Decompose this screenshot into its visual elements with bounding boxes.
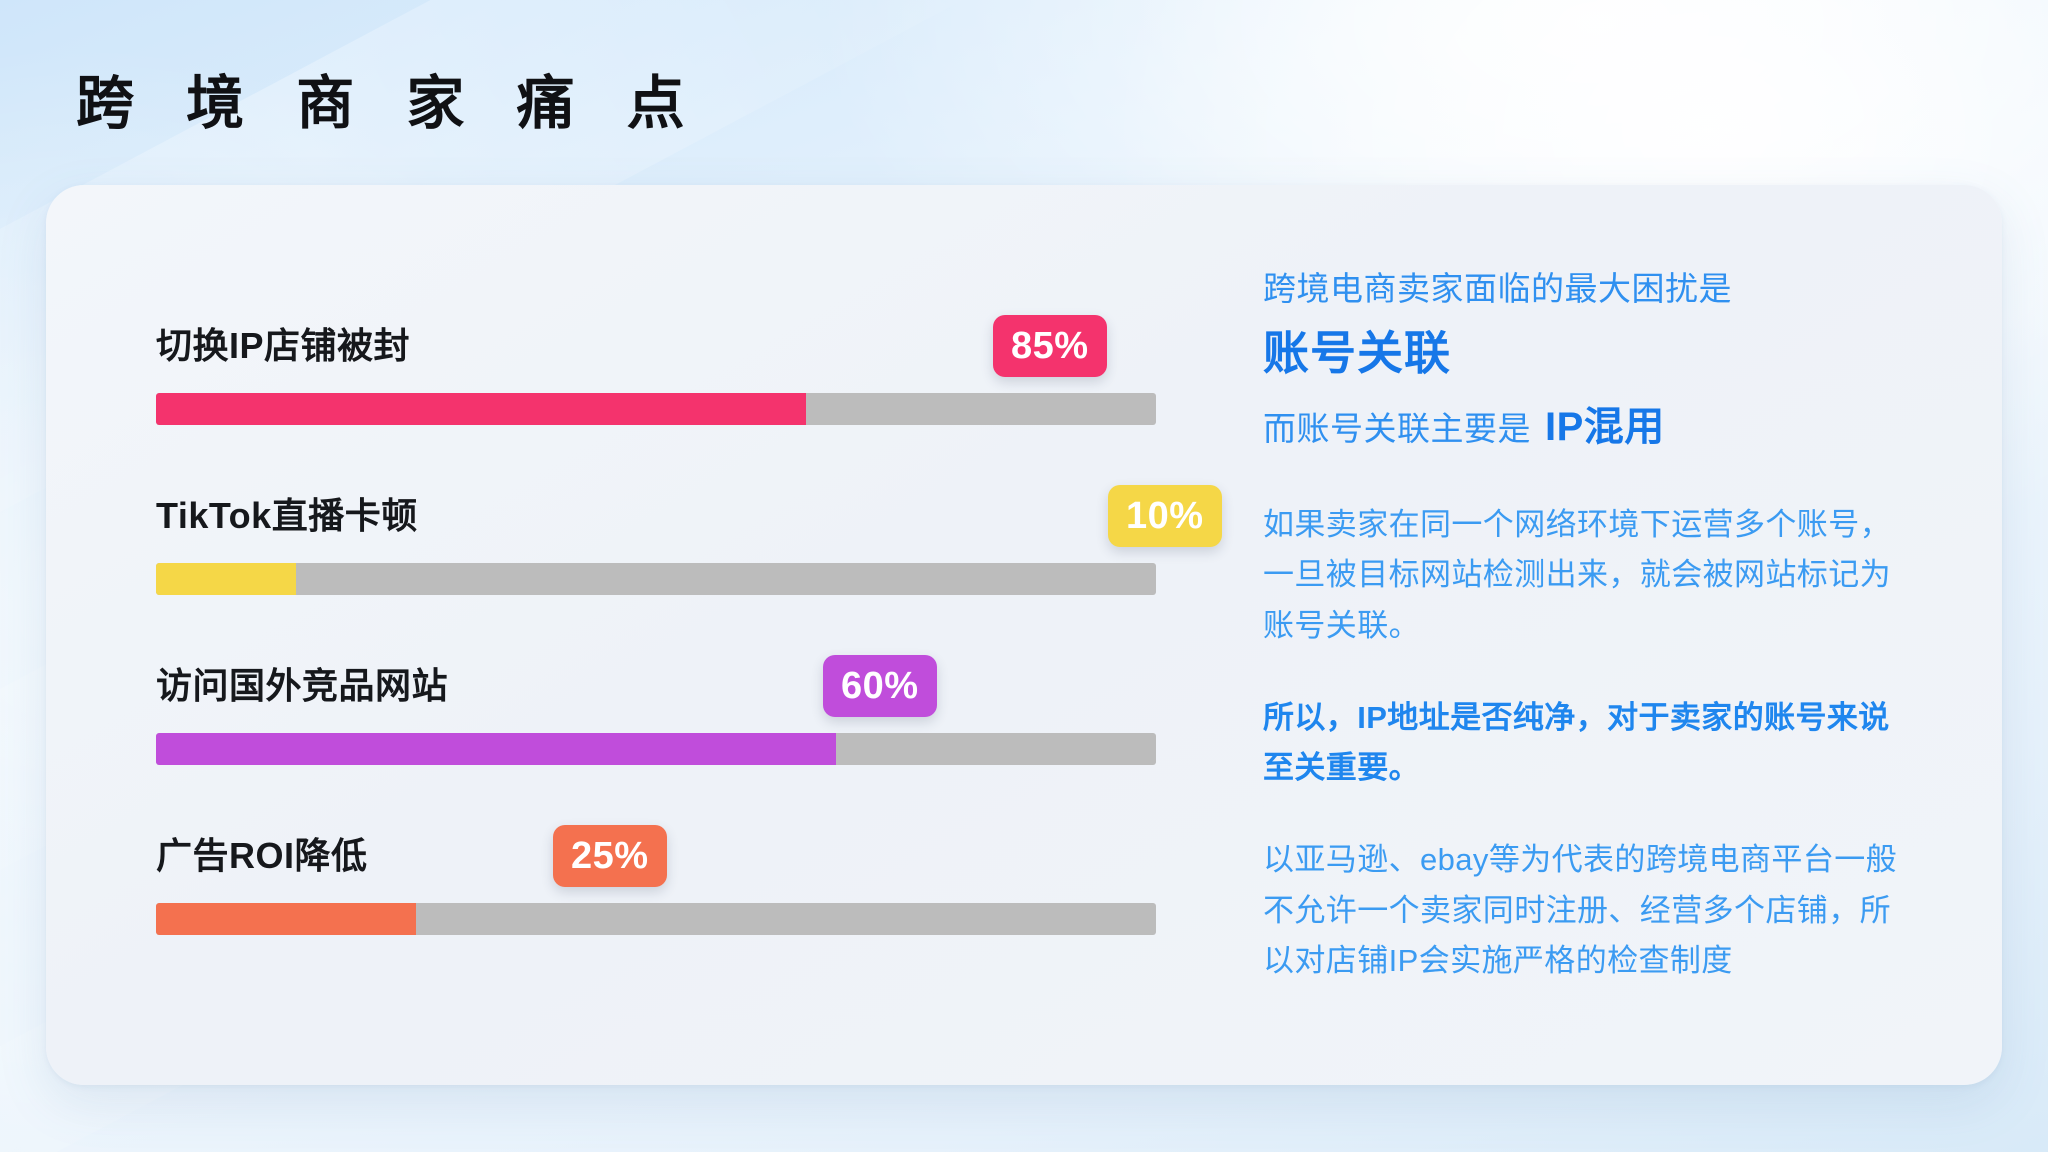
bar-value-badge: 10% [1108,485,1222,547]
bar-label: 访问国外竞品网站 [156,657,448,709]
lead-highlight: 账号关联 [1263,322,1912,384]
bar-header: TikTok直播卡顿 10% [108,447,1191,547]
bar-track [156,903,1156,935]
bar-label: TikTok直播卡顿 [156,487,418,539]
bar-track [156,393,1156,425]
description-panel: 跨境电商卖家面临的最大困扰是 账号关联 而账号关联主要是 IP混用 如果卖家在同… [1191,185,2002,1085]
paragraph-1: 如果卖家在同一个网络环境下运营多个账号，一旦被目标网站检测出来，就会被网站标记为… [1263,500,1912,651]
bar-fill [156,733,836,765]
bar-header: 切换IP店铺被封 85% [108,277,1191,377]
bar-row: 访问国外竞品网站 60% [108,617,1191,787]
paragraph-3: 以亚马逊、ebay等为代表的跨境电商平台一般不允许一个卖家同时注册、经营多个店铺… [1263,835,1912,986]
bar-track [156,563,1156,595]
bar-header: 访问国外竞品网站 60% [108,617,1191,717]
lead-mix-prefix: 而账号关联主要是 [1263,403,1531,454]
lead-line: 跨境电商卖家面临的最大困扰是 [1263,263,1912,314]
page-title: 跨 境 商 家 痛 点 [76,56,703,140]
bar-value-badge: 60% [823,655,937,717]
bar-label: 切换IP店铺被封 [156,317,410,369]
bar-label: 广告ROI降低 [156,827,368,879]
paragraph-2: 所以，IP地址是否纯净，对于卖家的账号来说至关重要。 [1263,693,1912,793]
lead-mix-line: 而账号关联主要是 IP混用 [1263,396,1912,458]
slide-root: 跨 境 商 家 痛 点 切换IP店铺被封 85% TikTok直播卡顿 10% [0,0,2048,1152]
content-card: 切换IP店铺被封 85% TikTok直播卡顿 10% 访问国外竞品网站 [46,185,2002,1085]
bar-header: 广告ROI降低 25% [108,787,1191,887]
bar-fill [156,563,296,595]
bar-fill [156,393,806,425]
bar-row: TikTok直播卡顿 10% [108,447,1191,617]
bar-row: 切换IP店铺被封 85% [108,277,1191,447]
bar-fill [156,903,416,935]
bar-track [156,733,1156,765]
lead-mix-accent: IP混用 [1545,396,1665,458]
bar-value-badge: 25% [553,825,667,887]
bar-row: 广告ROI降低 25% [108,787,1191,957]
bar-chart-panel: 切换IP店铺被封 85% TikTok直播卡顿 10% 访问国外竞品网站 [46,185,1191,1085]
bar-value-badge: 85% [993,315,1107,377]
